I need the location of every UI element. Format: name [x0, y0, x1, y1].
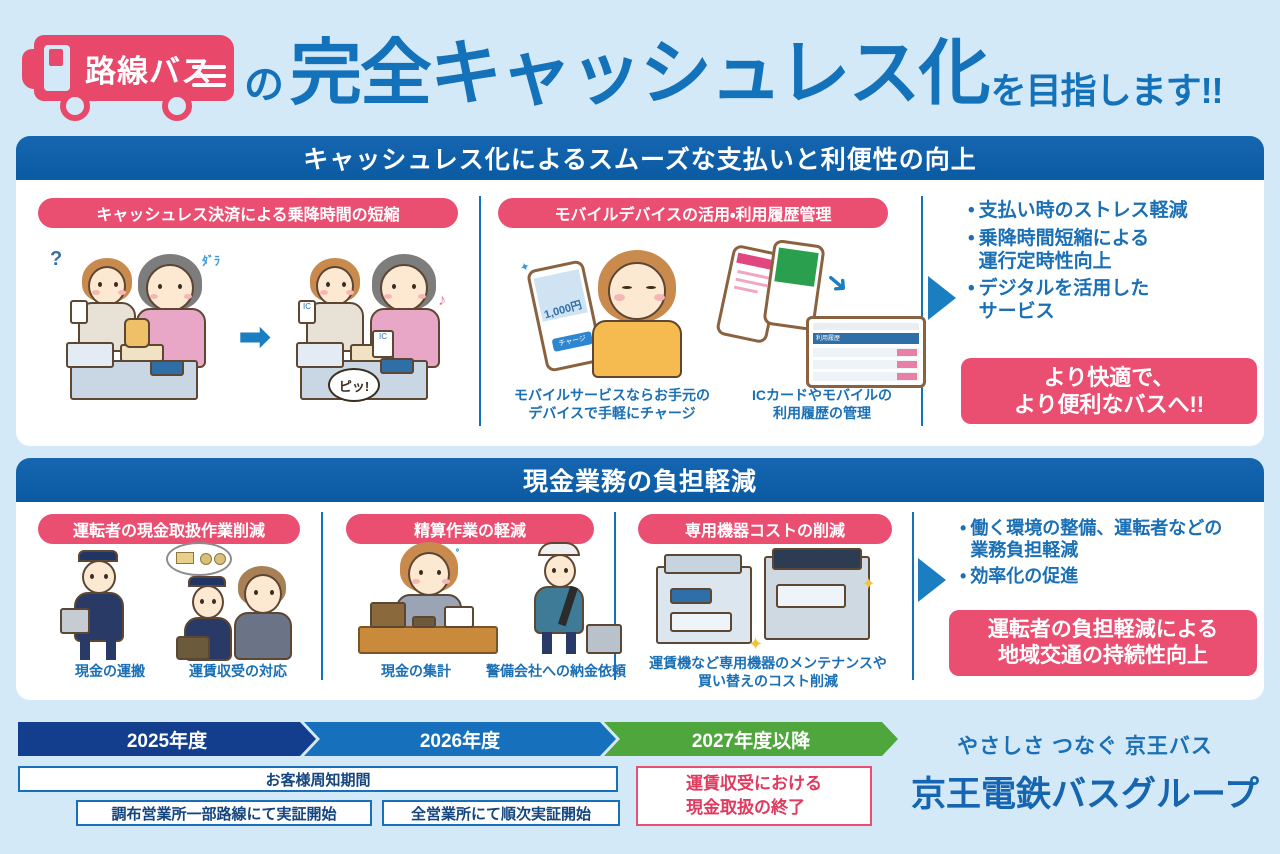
divider-1 [479, 196, 481, 426]
bullet-2: 乗降時間短縮による 運行定時性向上 [979, 228, 1149, 274]
illustration-ic-payment: IC ♪ IC ピッ! [284, 244, 474, 404]
bullet-4: 働く環境の整備、運転者などの 業務負担軽減 [970, 518, 1222, 561]
section1-title: キャッシュレス化によるスムーズな支払いと利便性の向上 [303, 140, 977, 176]
section2-bullet-list: •働く環境の整備、運転者などの 業務負担軽減 •効率化の促進 [960, 518, 1260, 593]
timeline-trial-all: 全営業所にて順次実証開始 [382, 800, 620, 826]
page-title: 完全キャッシュレス化 [290, 38, 989, 110]
section2-band: 現金業務の負担軽減 [16, 458, 1264, 502]
section1-callout: より快適で、 より便利なバスへ!! [961, 358, 1257, 424]
ic-card-a [70, 300, 88, 324]
caption-fare-machines: 運賃機など専用機器のメンテナンスや 買い替えのコスト削減 [636, 654, 900, 690]
caption-cash-transport: 現金の運搬 [56, 662, 164, 680]
music-note-icon: ♪ [438, 292, 446, 310]
section-cashless-benefits: キャッシュレス化によるスムーズな支払いと利便性の向上 キャッシュレス決済による乗… [16, 136, 1264, 446]
title-connector: の [244, 52, 284, 110]
pill-mobile-device: モバイルデバイスの活用・利用履歴管理 [498, 198, 888, 228]
pill-faster-boarding: キャッシュレス決済による乗降時間の短縮 [38, 198, 458, 228]
tablet-history: 利用履歴 [806, 316, 926, 388]
caption-security-deposit: 警備会社への納金依頼 [476, 662, 636, 680]
curved-arrow-icon: ➜ [818, 262, 857, 302]
illustration-cash-transport [58, 550, 158, 660]
company-logo: やさしさ つなぐ 京王バス 京王電鉄バスグループ [905, 730, 1265, 817]
section-cash-burden-reduction: 現金業務の負担軽減 運転者の現金取扱作業削減 精算作業の軽減 専用機器コストの削… [16, 458, 1264, 700]
section2-title: 現金業務の負担軽減 [523, 462, 757, 498]
timeline-trial-chofu: 調布営業所一部路線にて実証開始 [76, 800, 372, 826]
pill-settlement-work: 精算作業の軽減 [346, 514, 594, 544]
thought-bubble [166, 542, 232, 576]
rollout-timeline: 2025年度 2026年度 2027年度以降 お客様周知期間 調布営業所一部路線… [18, 722, 898, 756]
bus-icon: 路線バス [16, 35, 234, 113]
page-title-suffix: を目指します!! [991, 62, 1223, 114]
divider-5 [912, 512, 914, 680]
infographic-page: 路線バス の 完全キャッシュレス化 を目指します!! キャッシュレス化によるスム… [0, 0, 1280, 854]
timeline-cash-end: 運賃収受における 現金取扱の終了 [636, 766, 872, 826]
page-header: 路線バス の 完全キャッシュレス化 を目指します!! [0, 18, 1280, 130]
history-title: 利用履歴 [813, 333, 919, 344]
illustration-fare-collection [166, 542, 306, 660]
beep-speech-bubble: ピッ! [328, 368, 380, 402]
illustration-cash-counting: ﾟ [352, 542, 502, 660]
pill-driver-cash-handling: 運転者の現金取扱作業削減 [38, 514, 300, 544]
illustration-fare-machines: ✦ ✦ [656, 548, 886, 658]
timeline-notice-period: お客様周知期間 [18, 766, 618, 792]
illustration-cash-payment: ? ﾀﾞﾗ [46, 244, 236, 404]
illustration-mobile-charge: ✦ 1,000円 チャージ [514, 242, 714, 392]
section1-bullet-list: •支払い時のストレス軽減 •乗降時間短縮による 運行定時性向上 •デジタルを活用… [968, 200, 1258, 329]
section1-result-arrow-icon [928, 276, 956, 320]
timeline-phase-2027: 2027年度以降 [604, 722, 898, 756]
bus-badge-label: 路線バス [74, 41, 224, 95]
divider-3 [321, 512, 323, 680]
section2-result-arrow-icon [918, 558, 946, 602]
bullet-5: 効率化の促進 [970, 566, 1078, 588]
logo-group-name: 京王電鉄バスグループ [905, 766, 1265, 817]
timeline-phase-2026: 2026年度 [304, 722, 616, 756]
caption-usage-history: ICカードやモバイルの 利用履歴の管理 [722, 386, 922, 422]
transition-arrow-icon: ➡ [238, 314, 272, 360]
charge-button[interactable]: チャージ [552, 331, 594, 352]
caption-fare-collection: 運賃収受の対応 [168, 662, 308, 680]
timeline-phases: 2025年度 2026年度 2027年度以降 [18, 722, 898, 756]
section2-callout: 運転者の負担軽減による 地域交通の持続性向上 [949, 610, 1257, 676]
logo-tagline: やさしさ つなぐ 京王バス [905, 730, 1265, 760]
illustration-usage-history: ➜ 利用履歴 [716, 242, 921, 392]
question-mark-icon: ? [50, 248, 62, 271]
ic-card-b: IC [298, 300, 316, 324]
bullet-3: デジタルを活用した サービス [979, 278, 1150, 324]
pill-equipment-cost: 専用機器コストの削減 [638, 514, 892, 544]
bullet-1: 支払い時のストレス軽減 [979, 200, 1188, 223]
caption-mobile-charge: モバイルサービスならお手元の デバイスで手軽にチャージ [504, 386, 720, 422]
illustration-security-deposit [520, 542, 630, 660]
timeline-phase-2025: 2025年度 [18, 722, 316, 756]
caption-cash-counting: 現金の集計 [356, 662, 476, 680]
sweat-icon: ﾀﾞﾗ [202, 252, 220, 269]
section1-band: キャッシュレス化によるスムーズな支払いと利便性の向上 [16, 136, 1264, 180]
